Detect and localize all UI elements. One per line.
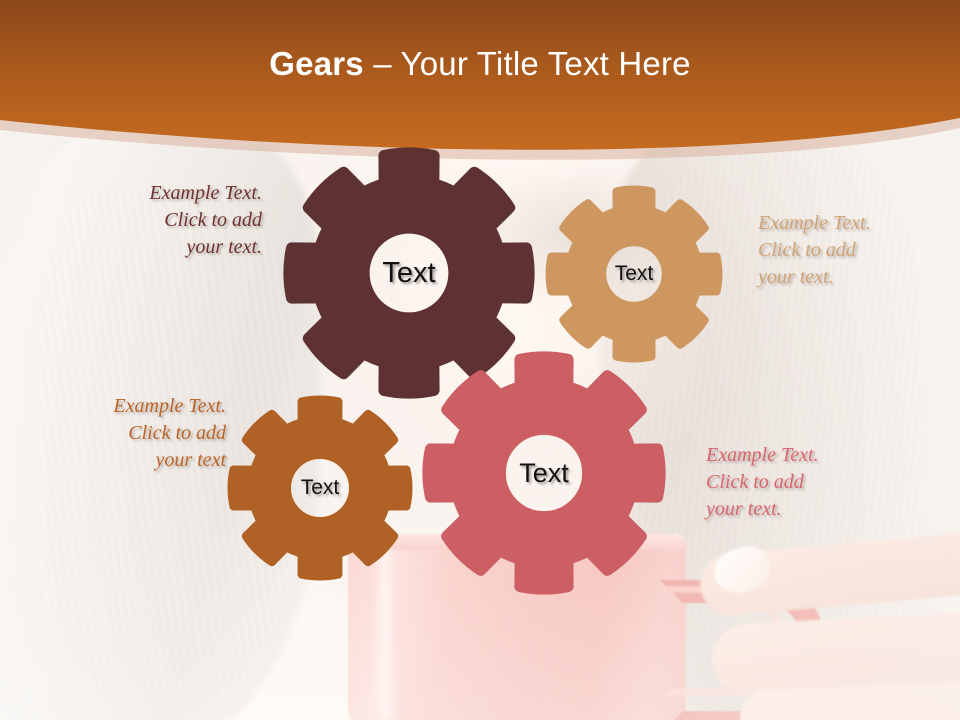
gear-orange[interactable]: Text	[228, 396, 412, 580]
gear-orange-shape	[228, 396, 412, 580]
caption-bottom-left[interactable]: Example Text. Click to add your text	[48, 393, 226, 474]
page-title: Gears – Your Title Text Here	[0, 44, 960, 84]
title-banner: Gears – Your Title Text Here	[0, 0, 960, 165]
caption-bottom-right[interactable]: Example Text. Click to add your text.	[706, 442, 896, 523]
page-title-rest: – Your Title Text Here	[364, 45, 691, 82]
caption-top-left[interactable]: Example Text. Click to add your text.	[90, 180, 262, 261]
gear-salmon[interactable]: Text	[423, 352, 665, 594]
gear-salmon-shape	[423, 352, 665, 594]
gear-tan-shape	[546, 186, 722, 362]
caption-top-right[interactable]: Example Text. Click to add your text.	[758, 210, 938, 291]
page-title-strong: Gears	[269, 45, 364, 82]
slide-canvas: Gears – Your Title Text Here Example Tex…	[0, 0, 960, 720]
gear-tan[interactable]: Text	[546, 186, 722, 362]
